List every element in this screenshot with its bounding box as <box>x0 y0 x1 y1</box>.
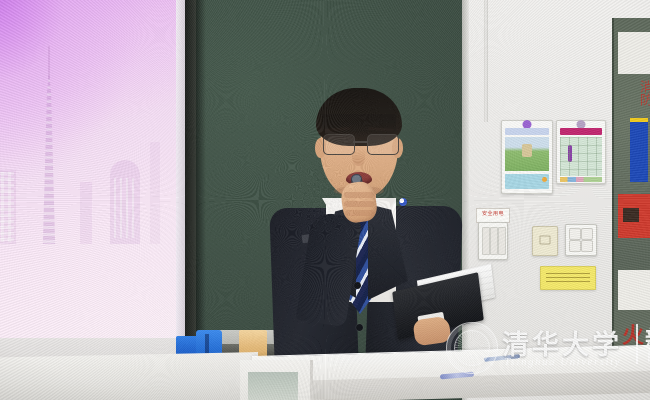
outlet-socket-4 <box>581 240 593 252</box>
lectern-shelf <box>248 372 298 400</box>
skyline-rounded-tower <box>110 160 140 244</box>
notice-line <box>546 281 590 282</box>
power-outlet-plate <box>565 224 597 256</box>
notice-line <box>546 273 590 274</box>
suit-button-1 <box>354 282 361 289</box>
yellow-notice-label <box>540 266 596 290</box>
switch-warning-label: 安全用电 <box>476 208 510 223</box>
notice-line <box>546 277 590 278</box>
projection-screen <box>0 0 196 400</box>
eyeglass-lens-right <box>367 134 399 155</box>
bulletin-paper-bottom <box>618 270 650 310</box>
skyline-thin-tower-right <box>150 142 160 244</box>
eyeglass-lens-left <box>323 134 355 155</box>
projection-screen-surface <box>0 0 196 340</box>
presenter <box>268 86 468 366</box>
bulletin-vertical-text: 消防 <box>620 80 650 122</box>
chalkboard-shadow <box>196 0 206 352</box>
bulletin-blue-panel <box>630 122 648 182</box>
map-legend <box>560 177 602 182</box>
skyline-pyramid-tower <box>32 72 66 244</box>
light-switch-1[interactable] <box>482 227 490 255</box>
campus-map-poster <box>556 120 606 184</box>
outlet-socket-3 <box>569 240 581 252</box>
light-switch-2[interactable] <box>490 227 498 255</box>
poster-title-bar <box>505 128 549 135</box>
wall-conduit <box>484 0 488 122</box>
campus-photo-poster <box>501 120 553 194</box>
bulletin-paper-top <box>618 32 650 74</box>
beige-wall-plate <box>532 226 558 256</box>
skyline-slim-tower <box>80 182 92 244</box>
bulletin-red-poster <box>618 194 650 238</box>
light-switch-plate[interactable] <box>478 222 508 260</box>
map-diagram <box>560 137 602 176</box>
poster-photo <box>505 137 549 171</box>
presenter-nose <box>352 148 365 166</box>
map-title-bar <box>560 128 602 135</box>
eyeglass-bridge <box>353 141 367 143</box>
light-switch-3[interactable] <box>498 227 506 255</box>
lapel-pin-icon <box>399 198 407 206</box>
photo-scene: 安全用电 消防 火 <box>0 0 650 400</box>
skyline-office-block-left <box>0 170 16 244</box>
side-table <box>0 352 258 400</box>
suit-button-2 <box>356 324 363 331</box>
presenter-finger <box>344 192 374 198</box>
fire-safety-bulletin: 消防 火 <box>612 18 650 370</box>
poster-caption-bar <box>505 174 549 189</box>
outlet-socket-1 <box>569 228 581 240</box>
presenter-finger <box>345 210 375 216</box>
outlet-socket-2 <box>581 228 593 240</box>
presenter-finger <box>344 201 374 207</box>
